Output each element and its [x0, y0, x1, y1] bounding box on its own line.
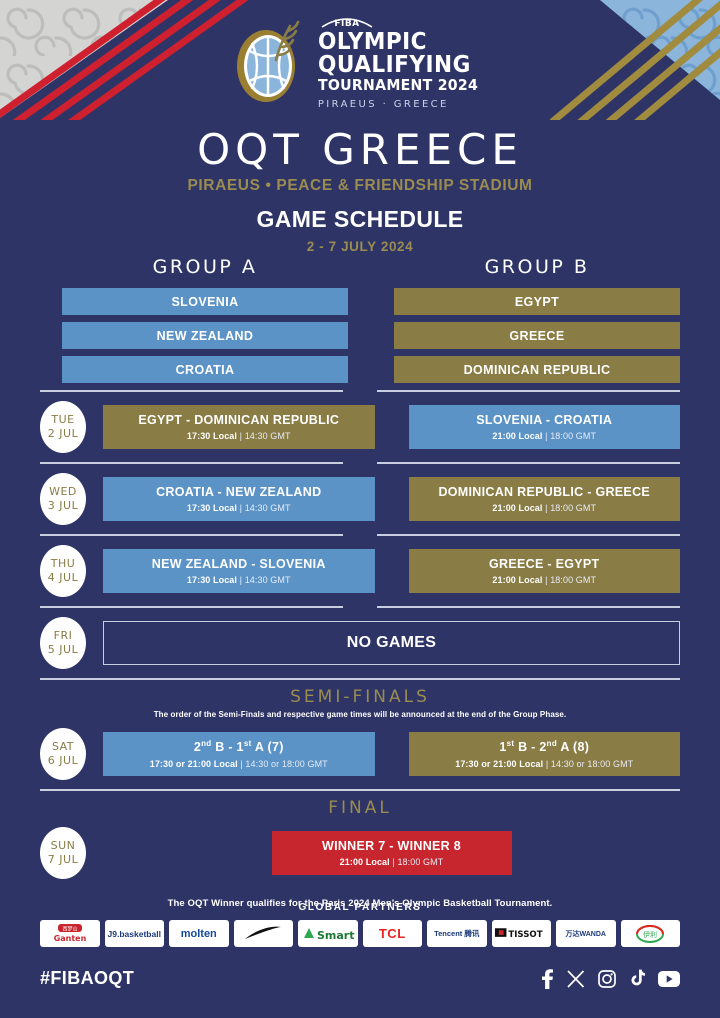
date-badge: THU 4 JUL: [40, 545, 86, 597]
game-local-time: 17:30 Local: [187, 503, 237, 513]
page-title: OQT GREECE: [0, 128, 720, 172]
partner-logo-j9basketball[interactable]: J9.basketball: [105, 920, 165, 947]
game-time: 17:30 Local | 14:30 GMT: [187, 503, 291, 513]
schedule-day-row: TUE 2 JUL EGYPT - DOMINICAN REPUBLIC 17:…: [40, 390, 680, 462]
group-b-team: GREECE: [394, 322, 680, 349]
wanda-logo-icon: 万达WANDA: [566, 929, 606, 939]
molten-logo-icon: molten: [181, 928, 217, 940]
game-local-time: 21:00 Local: [340, 857, 390, 867]
schedule-day-row: THU 4 JUL NEW ZEALAND - SLOVENIA 17:30 L…: [40, 534, 680, 606]
footer: #FIBAOQT: [40, 968, 680, 989]
game-teams: CROATIA - NEW ZEALAND: [156, 485, 321, 499]
hashtag-label: #FIBAOQT: [40, 968, 134, 989]
date-badge: TUE 2 JUL: [40, 401, 86, 453]
no-games-card: NO GAMES: [103, 621, 680, 665]
game-time: 21:00 Local | 18:00 GMT: [340, 857, 444, 867]
game-card[interactable]: 1st B - 2nd A (8) 17:30 or 21:00 Local |…: [409, 732, 681, 776]
svg-text:Ganten: Ganten: [53, 934, 86, 943]
game-card[interactable]: GREECE - EGYPT 21:00 Local | 18:00 GMT: [409, 549, 681, 593]
group-a-column: GROUP A SLOVENIA NEW ZEALAND CROATIA: [62, 256, 348, 390]
yili-logo-icon: 伊利: [635, 923, 665, 945]
tissot-logo-icon: TISSOT: [494, 925, 550, 943]
game-local-time: 21:00 Local: [492, 431, 542, 441]
facebook-icon[interactable]: [541, 969, 554, 989]
game-teams: GREECE - EGYPT: [489, 557, 599, 571]
logo-line-qualifying: QUALIFYING: [318, 54, 471, 77]
semifinals-note: The order of the Semi-Finals and respect…: [40, 710, 680, 719]
date-badge: SUN 7 JUL: [40, 827, 86, 879]
date-weekday: TUE: [51, 413, 74, 427]
date-daymonth: 5 JUL: [48, 643, 78, 657]
instagram-icon[interactable]: [598, 970, 616, 988]
social-links: [541, 969, 680, 989]
group-b-title: GROUP B: [394, 256, 680, 278]
svg-text:西梦山: 西梦山: [62, 925, 77, 932]
groups-section: GROUP A SLOVENIA NEW ZEALAND CROATIA GRO…: [40, 256, 680, 390]
final-row: FINAL SUN 7 JUL WINNER 7 - WINNER 8 21:0…: [40, 789, 680, 909]
date-daymonth: 4 JUL: [48, 571, 78, 585]
group-b-team: DOMINICAN REPUBLIC: [394, 356, 680, 383]
game-gmt-time: 14:30 GMT: [245, 431, 291, 441]
x-twitter-icon[interactable]: [567, 970, 585, 988]
final-heading: FINAL: [40, 791, 680, 818]
game-gmt-time: 14:30 or 18:00 GMT: [245, 759, 327, 769]
rest-day-row: FRI 5 JUL NO GAMES: [40, 606, 680, 678]
date-daymonth: 6 JUL: [48, 754, 78, 768]
game-time: 21:00 Local | 18:00 GMT: [492, 575, 596, 585]
game-card[interactable]: EGYPT - DOMINICAN REPUBLIC 17:30 Local |…: [103, 405, 375, 449]
partner-logo-tissot[interactable]: TISSOT: [492, 920, 552, 947]
venue-subtitle: PIRAEUS • PEACE & FRIENDSHIP STADIUM: [0, 177, 720, 195]
partner-logo-wanda[interactable]: 万达WANDA: [556, 920, 616, 947]
date-weekday: SAT: [52, 740, 74, 754]
date-badge: FRI 5 JUL: [40, 617, 86, 669]
game-card[interactable]: NEW ZEALAND - SLOVENIA 17:30 Local | 14:…: [103, 549, 375, 593]
date-weekday: SUN: [51, 839, 76, 853]
svg-text:Smart: Smart: [317, 929, 355, 942]
game-gmt-time: 14:30 GMT: [245, 503, 291, 513]
game-teams: EGYPT - DOMINICAN REPUBLIC: [138, 413, 339, 427]
tencent-logo-icon: Tencent 腾讯: [434, 928, 479, 939]
group-a-title: GROUP A: [62, 256, 348, 278]
game-teams: 1st B - 2nd A (8): [499, 739, 589, 754]
tcl-logo-icon: TCL: [379, 926, 406, 941]
partner-logo-nike[interactable]: [234, 920, 294, 947]
game-gmt-time: 18:00 GMT: [397, 857, 443, 867]
game-local-time: 17:30 or 21:00 Local: [455, 759, 543, 769]
tournament-dates: 2 - 7 JULY 2024: [0, 239, 720, 254]
date-weekday: FRI: [54, 629, 73, 643]
svg-text:TISSOT: TISSOT: [508, 929, 542, 939]
game-time: 21:00 Local | 18:00 GMT: [492, 431, 596, 441]
game-gmt-time: 18:00 GMT: [550, 431, 596, 441]
svg-text:FIBA: FIBA: [334, 19, 359, 29]
group-a-team: NEW ZEALAND: [62, 322, 348, 349]
date-daymonth: 2 JUL: [48, 427, 78, 441]
game-gmt-time: 18:00 GMT: [550, 503, 596, 513]
group-a-team: SLOVENIA: [62, 288, 348, 315]
game-time: 17:30 Local | 14:30 GMT: [187, 575, 291, 585]
logo-line-tournament: TOURNAMENT 2024: [318, 76, 478, 95]
j9basketball-logo-icon: J9.basketball: [108, 929, 161, 939]
partner-logo-molten[interactable]: molten: [169, 920, 229, 947]
game-teams: 2nd B - 1st A (7): [194, 739, 284, 754]
smart-logo-icon: Smart: [301, 926, 355, 942]
partner-logo-yili[interactable]: 伊利: [621, 920, 681, 947]
ganten-logo-icon: 西梦山 Ganten: [45, 923, 95, 945]
partner-logo-tcl[interactable]: TCL: [363, 920, 423, 947]
partner-logo-ganten[interactable]: 西梦山 Ganten: [40, 920, 100, 947]
game-teams: WINNER 7 - WINNER 8: [322, 839, 461, 853]
group-b-column: GROUP B EGYPT GREECE DOMINICAN REPUBLIC: [394, 256, 680, 390]
date-daymonth: 7 JUL: [48, 853, 78, 867]
game-card[interactable]: DOMINICAN REPUBLIC - GREECE 21:00 Local …: [409, 477, 681, 521]
partners-heading: GLOBAL PARTNERS: [40, 902, 680, 913]
game-teams: NEW ZEALAND - SLOVENIA: [152, 557, 326, 571]
game-local-time: 17:30 or 21:00 Local: [150, 759, 238, 769]
game-local-time: 21:00 Local: [492, 575, 542, 585]
date-badge: SAT 6 JUL: [40, 728, 86, 780]
youtube-icon[interactable]: [658, 971, 680, 987]
date-daymonth: 3 JUL: [48, 499, 78, 513]
game-gmt-time: 18:00 GMT: [550, 575, 596, 585]
date-weekday: WED: [49, 485, 77, 499]
date-weekday: THU: [51, 557, 76, 571]
no-games-label: NO GAMES: [347, 634, 437, 652]
partner-logo-strip: 西梦山 Ganten J9.basketball molten Smart: [40, 920, 680, 947]
logo-line-olympic: OLYMPIC: [318, 31, 427, 54]
title-block: OQT GREECE PIRAEUS • PEACE & FRIENDSHIP …: [0, 128, 720, 254]
date-badge: WED 3 JUL: [40, 473, 86, 525]
fiba-wordmark-icon: FIBA: [320, 14, 374, 30]
nike-swoosh-logo-icon: [243, 926, 283, 942]
group-b-team: EGYPT: [394, 288, 680, 315]
game-teams: SLOVENIA - CROATIA: [476, 413, 612, 427]
global-partners-section: GLOBAL PARTNERS 西梦山 Ganten J9.basketball…: [40, 902, 680, 947]
semifinals-heading: SEMI-FINALS: [40, 680, 680, 707]
partner-logo-smart[interactable]: Smart: [298, 920, 358, 947]
logo-line-location: PIRAEUS · GREECE: [318, 99, 449, 110]
final-game-card[interactable]: WINNER 7 - WINNER 8 21:00 Local | 18:00 …: [272, 831, 512, 875]
oqt-greece-schedule-poster: FIBA OLYMPIC QUALIFYING TOURNAMENT 2024 …: [0, 0, 720, 1018]
game-card[interactable]: SLOVENIA - CROATIA 21:00 Local | 18:00 G…: [409, 405, 681, 449]
svg-text:伊利: 伊利: [643, 930, 657, 939]
game-local-time: 17:30 Local: [187, 431, 237, 441]
game-gmt-time: 14:30 or 18:00 GMT: [551, 759, 633, 769]
olympic-qualifying-emblem-icon: [232, 16, 308, 108]
game-local-time: 21:00 Local: [492, 503, 542, 513]
game-teams: DOMINICAN REPUBLIC - GREECE: [438, 485, 650, 499]
game-card[interactable]: CROATIA - NEW ZEALAND 17:30 Local | 14:3…: [103, 477, 375, 521]
game-local-time: 17:30 Local: [187, 575, 237, 585]
tournament-logo: FIBA OLYMPIC QUALIFYING TOURNAMENT 2024 …: [0, 14, 720, 110]
game-time: 17:30 or 21:00 Local | 14:30 or 18:00 GM…: [150, 759, 328, 769]
game-time: 17:30 or 21:00 Local | 14:30 or 18:00 GM…: [455, 759, 633, 769]
game-time: 21:00 Local | 18:00 GMT: [492, 503, 596, 513]
schedule-heading: GAME SCHEDULE: [0, 206, 720, 233]
group-a-team: CROATIA: [62, 356, 348, 383]
schedule-section: TUE 2 JUL EGYPT - DOMINICAN REPUBLIC 17:…: [40, 390, 680, 909]
partner-logo-tencent[interactable]: Tencent 腾讯: [427, 920, 487, 947]
game-time: 17:30 Local | 14:30 GMT: [187, 431, 291, 441]
game-gmt-time: 14:30 GMT: [245, 575, 291, 585]
tiktok-icon[interactable]: [629, 969, 645, 988]
semifinals-row: SEMI-FINALS The order of the Semi-Finals…: [40, 678, 680, 789]
game-card[interactable]: 2nd B - 1st A (7) 17:30 or 21:00 Local |…: [103, 732, 375, 776]
schedule-day-row: WED 3 JUL CROATIA - NEW ZEALAND 17:30 Lo…: [40, 462, 680, 534]
